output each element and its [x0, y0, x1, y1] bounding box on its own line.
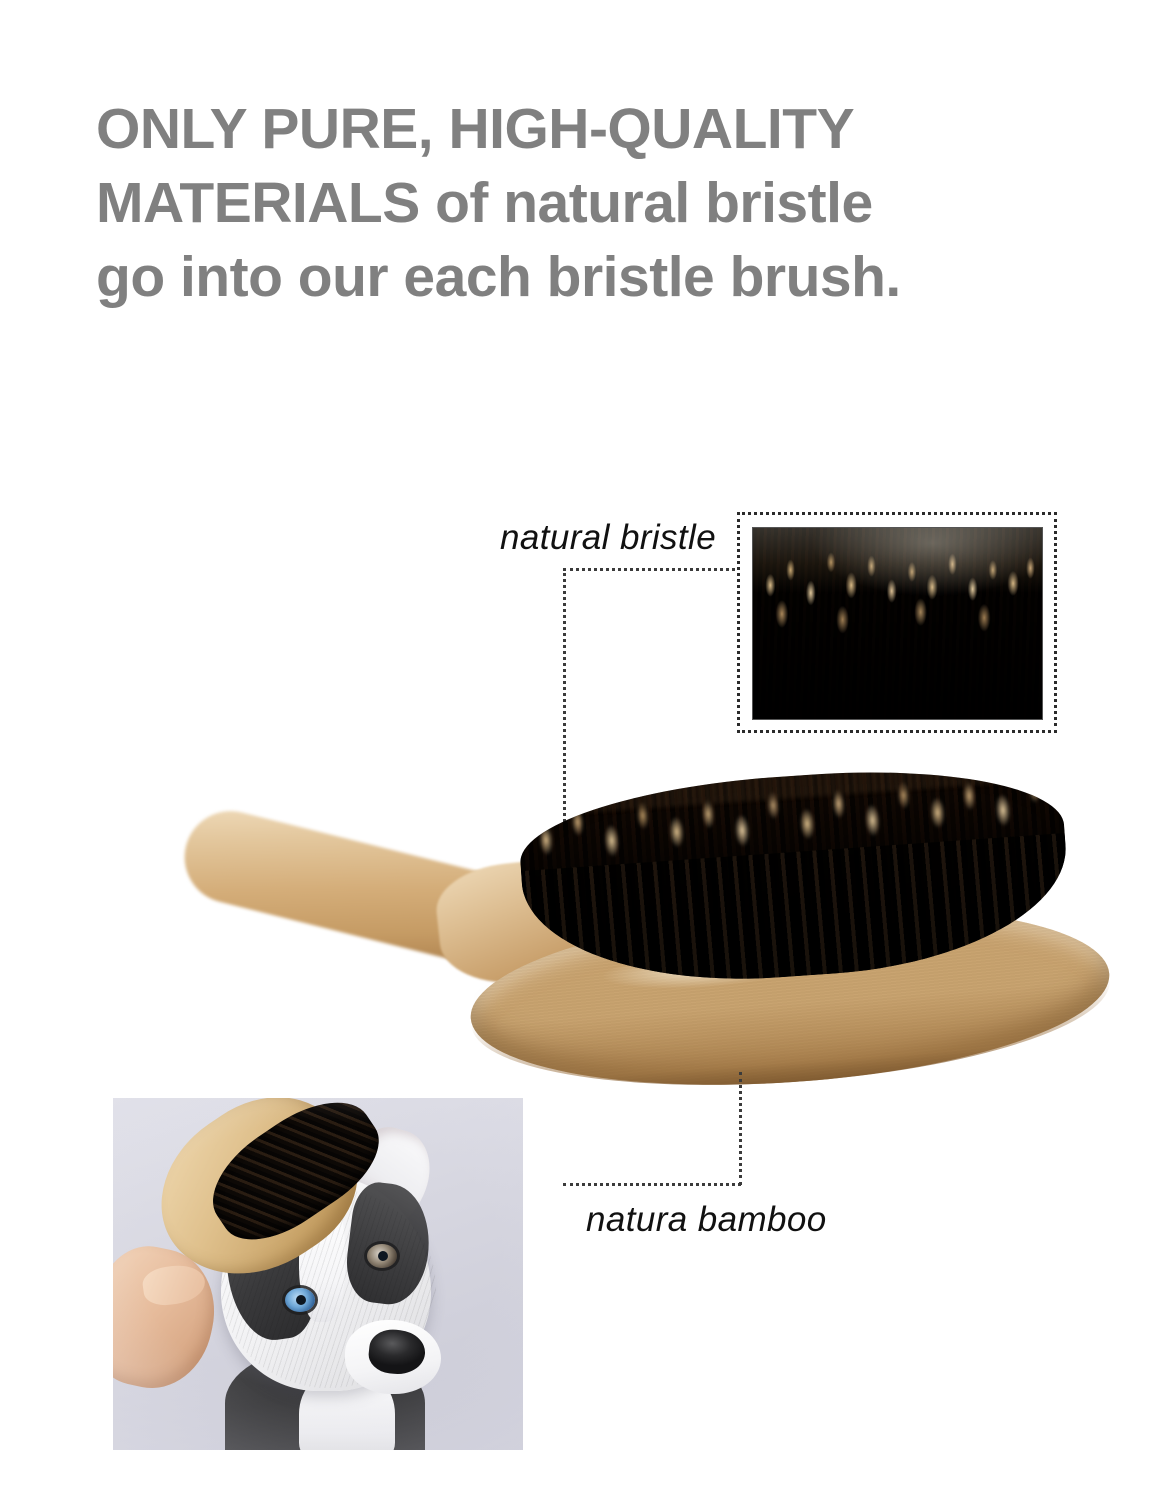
bristle-closeup-frame [737, 512, 1057, 733]
bamboo-bristle-brush-photo [170, 760, 960, 1090]
brush-bristle-pad [516, 757, 1074, 995]
leader-line-bamboo-vertical [739, 1072, 742, 1185]
headline-line-1: ONLY PURE, HIGH-QUALITY [96, 92, 1096, 166]
page-headline: ONLY PURE, HIGH-QUALITY MATERIALS of nat… [96, 92, 1096, 314]
callout-label-natura-bamboo: natura bamboo [586, 1200, 827, 1240]
puppy-pupil-right [378, 1251, 388, 1261]
puppy-eye-brown [367, 1244, 397, 1268]
leader-line-bamboo-horizontal [563, 1183, 741, 1186]
puppy-eye-blue [285, 1288, 315, 1312]
headline-line-3: go into our each bristle brush. [96, 240, 1096, 314]
callout-label-natural-bristle: natural bristle [500, 518, 716, 558]
bristle-focus-glow [753, 528, 1042, 719]
headline-line-2: MATERIALS of natural bristle [96, 166, 1096, 240]
bristle-closeup-photo [752, 527, 1043, 720]
puppy-pupil-left [296, 1295, 306, 1305]
leader-line-bristle-horizontal [563, 568, 741, 571]
husky-puppy-grooming-photo [113, 1098, 523, 1450]
